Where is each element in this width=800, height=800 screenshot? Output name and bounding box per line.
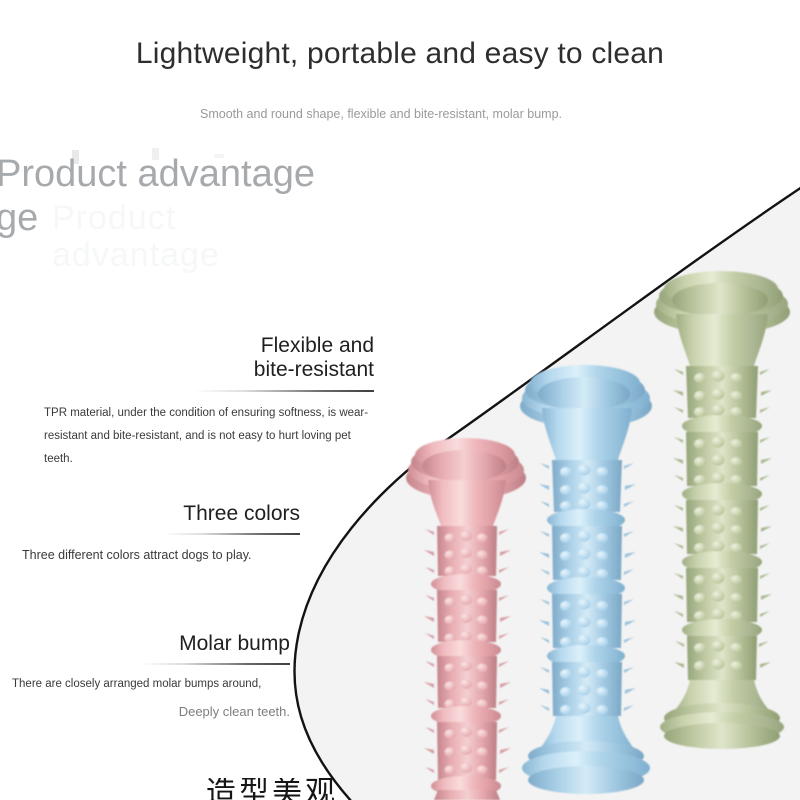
feature-flexible-bite-resistant: Flexible and bite-resistant TPR material… xyxy=(44,334,374,471)
feature-body: There are closely arranged molar bumps a… xyxy=(12,675,290,693)
feature-title: Three colors xyxy=(22,502,300,526)
blue-chew-toy xyxy=(520,365,652,794)
feature-underline xyxy=(194,390,374,392)
product-advantage-poster: Lightweight, portable and easy to clean … xyxy=(0,0,800,800)
feature-title: Molar bump xyxy=(12,632,290,656)
green-chew-toy xyxy=(654,271,790,749)
section-heading: Product advantage ge xyxy=(0,152,416,240)
headline-block: Lightweight, portable and easy to clean xyxy=(0,36,800,72)
bottom-heading-clipped: 造型美观 xyxy=(206,778,338,800)
feature-body-secondary: Deeply clean teeth. xyxy=(12,704,290,719)
feature-underline xyxy=(164,533,300,535)
feature-three-colors: Three colors Three different colors attr… xyxy=(22,502,300,565)
pink-chew-toy xyxy=(406,438,526,800)
feature-title: Flexible and bite-resistant xyxy=(44,334,374,383)
bottom-heading-text: 造型美观 xyxy=(206,778,338,800)
feature-body: Three different colors attract dogs to p… xyxy=(22,545,300,565)
feature-molar-bump: Molar bump There are closely arranged mo… xyxy=(12,632,290,719)
feature-underline xyxy=(140,663,290,665)
feature-body: TPR material, under the condition of ens… xyxy=(44,402,374,471)
page-title: Lightweight, portable and easy to clean xyxy=(0,36,800,72)
page-subtitle: Smooth and round shape, flexible and bit… xyxy=(200,105,572,123)
